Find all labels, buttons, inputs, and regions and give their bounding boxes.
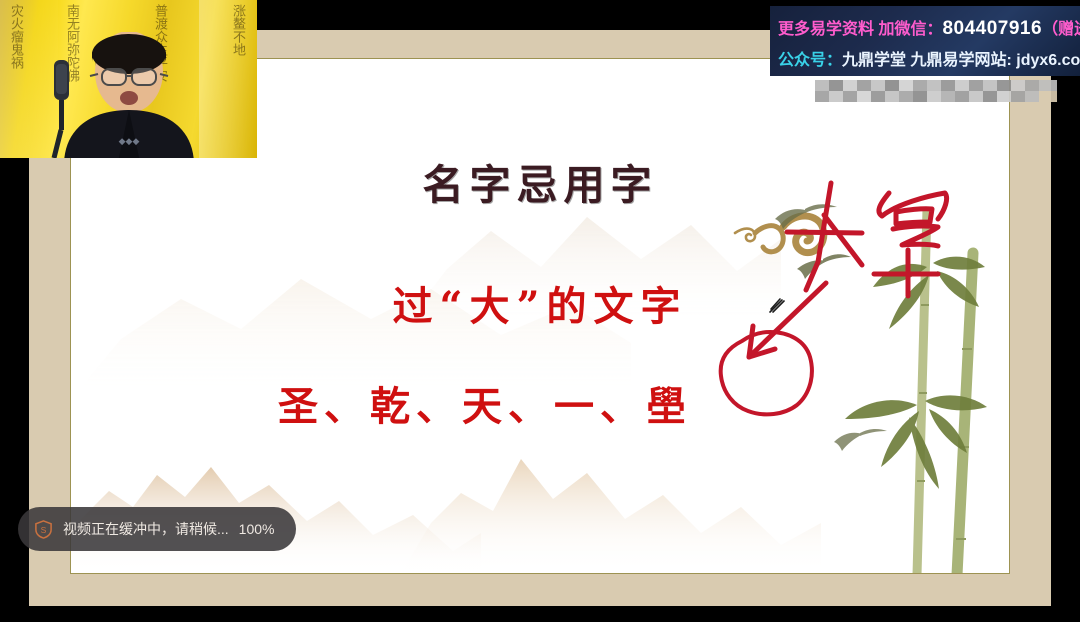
shield-icon: S — [34, 520, 53, 539]
buffering-progress: 100% — [239, 521, 275, 537]
promo-official-label: 公众号： — [778, 52, 842, 69]
promo-row-wechat: 更多易学资料 加微信：804407916（赠送资料 — [778, 15, 1080, 40]
video-player-stage: 名字忌用字 过“大”的文字 圣、乾、天、一、壆 — [0, 0, 1080, 622]
svg-text:S: S — [41, 524, 47, 534]
svg-text:◆◆◆: ◆◆◆ — [118, 136, 139, 146]
backdrop-calligraphy-right: 涨鳌不地 — [228, 4, 247, 154]
buffering-toast: S 视频正在缓冲中，请稍候... 100% — [18, 507, 296, 551]
promo-site-name: 九鼎学堂 九鼎易学网站: — [842, 52, 1012, 69]
promo-site-url: jdyx6.com — [1016, 52, 1080, 69]
censored-mosaic-strip — [815, 80, 1057, 102]
instructor-webcam[interactable]: 灾火瘤鬼祸 南无阿弥陀佛 普渡众生平安 涨鳌不地 ◆◆◆ — [0, 0, 257, 158]
promo-banner: 更多易学资料 加微信：804407916（赠送资料 公众号：九鼎学堂 九鼎易学网… — [770, 6, 1080, 76]
backdrop-calligraphy-left: 灾火瘤鬼祸 — [6, 4, 25, 154]
slide-examples: 圣、乾、天、一、壆 — [71, 374, 1009, 432]
slide-subtitle: 过“大”的文字 — [71, 274, 1009, 332]
promo-wechat-suffix: （赠送资料 — [1042, 21, 1080, 38]
promo-wechat-label: 更多易学资料 加微信： — [778, 21, 942, 38]
buffering-message: 视频正在缓冲中，请稍候... — [63, 519, 229, 539]
slide-title: 名字忌用字 — [71, 151, 1009, 211]
brush-cursor-icon — [768, 297, 788, 315]
microphone-icon — [50, 58, 74, 158]
promo-wechat-number: 804407916 — [942, 18, 1042, 39]
promo-row-website: 公众号：九鼎学堂 九鼎易学网站: jdyx6.com — [778, 46, 1080, 70]
